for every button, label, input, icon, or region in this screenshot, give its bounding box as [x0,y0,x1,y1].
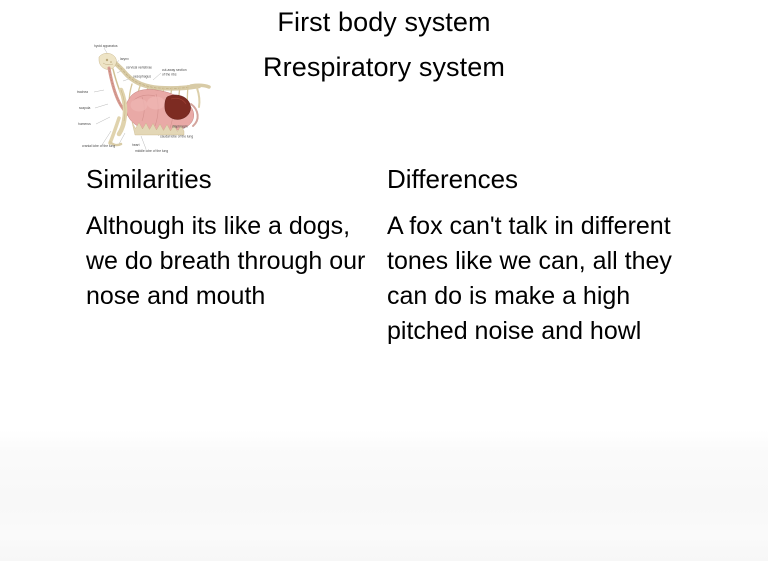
label-scapula: scapula [79,106,91,110]
slide-background-wash [0,430,768,561]
label-caudal-lobe: caudal lobe of the lung [160,135,193,139]
column-heading-differences: Differences [387,164,687,195]
label-cut-away-ribs-2: of the ribs [162,73,177,77]
slide-canvas: First body system Rrespiratory system [0,0,768,561]
label-cranial-lobe: cranial lobe of the lung [82,144,115,148]
label-heart: heart [132,143,140,147]
respiratory-anatomy-illustration: hyoid apparatus larynx cervical vertebra… [73,38,216,158]
label-cervical-vertebrae: cervical vertebrae [126,66,152,70]
label-cut-away-ribs-1: cut-away section [162,68,187,72]
column-heading-similarities: Similarities [86,164,376,195]
column-similarities: Similarities Although its like a dogs, w… [86,164,376,314]
dog-respiratory-system-diagram: hyoid apparatus larynx cervical vertebra… [73,38,216,158]
label-larynx: larynx [120,57,129,61]
column-body-differences: A fox can't talk in different tones like… [387,209,687,349]
label-humerus: humerus [78,122,91,126]
column-differences: Differences A fox can't talk in differen… [387,164,687,349]
comparison-columns: Similarities Although its like a dogs, w… [0,164,768,444]
label-middle-lobe: middle lobe of the lung [135,149,168,153]
column-body-similarities: Although its like a dogs, we do breath t… [86,209,376,314]
label-trachea: trachea [77,90,88,94]
label-hyoid-apparatus: hyoid apparatus [94,44,118,48]
label-oesophagus: oesophagus [133,75,151,79]
slide-title-line-1: First body system [0,5,768,39]
label-diaphragm: diaphragm [172,125,188,129]
